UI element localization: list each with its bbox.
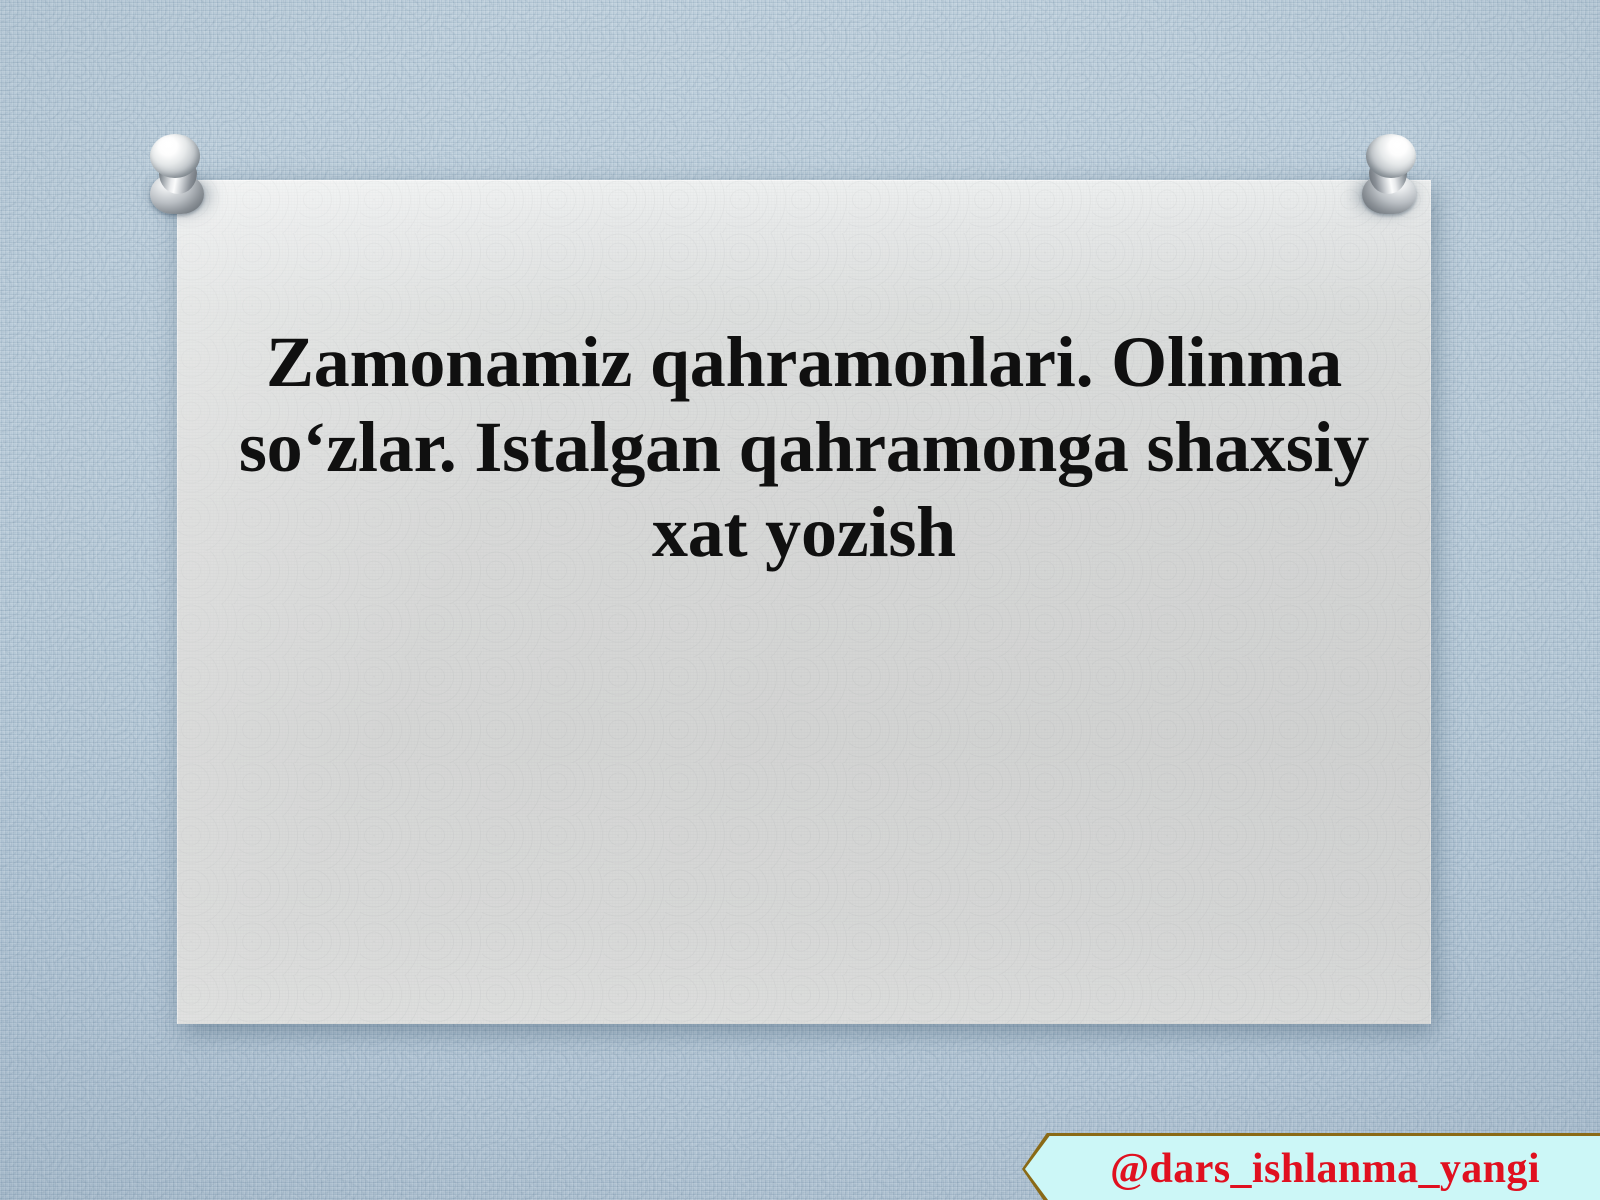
page-title: Zamonamiz qahramonlari. Olinma so‘zlar. …	[237, 320, 1371, 575]
pinned-paper-note: Zamonamiz qahramonlari. Olinma so‘zlar. …	[177, 180, 1431, 1024]
slide-canvas: Zamonamiz qahramonlari. Olinma so‘zlar. …	[0, 0, 1600, 1200]
paper-sheen	[177, 180, 1431, 1024]
paper-surface	[177, 180, 1431, 1024]
watermark-handle-text: @dars_ishlanma_yangi	[1022, 1145, 1600, 1193]
watermark-badge: @dars_ishlanma_yangi	[1022, 1133, 1600, 1200]
